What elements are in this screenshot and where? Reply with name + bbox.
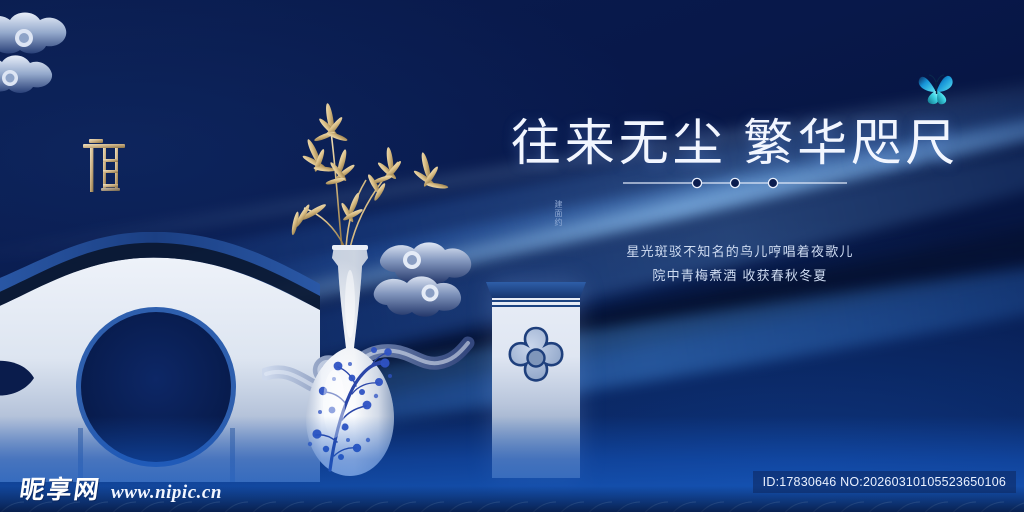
watermark-brand: 昵享网 www.nipic.cn: [20, 470, 222, 506]
watermark-brand-cn: 昵享网: [17, 470, 103, 506]
brand-logo-icon: [75, 132, 133, 198]
quatrefoil-flower-icon: [504, 326, 568, 390]
poster-canvas: 往来无尘 繁华咫尺 建面约 星光斑驳不知名的鸟儿哼唱着夜歌儿 院中青梅煮酒 收获…: [0, 0, 1024, 512]
subcopy-line-1: 星光斑驳不知名的鸟儿哼唱着夜歌儿: [520, 240, 960, 264]
chinese-cloud-icon: [0, 52, 76, 100]
page-title: 往来无尘 繁华咫尺: [500, 118, 970, 168]
area-tag-label: 建面约: [545, 200, 563, 227]
butterfly-icon: [915, 72, 959, 106]
divider-three-circles-icon: [500, 172, 970, 194]
subcopy-block: 星光斑驳不知名的鸟儿哼唱着夜歌儿 院中青梅煮酒 收获春秋冬夏: [520, 240, 960, 288]
golden-bamboo-icon: [280, 88, 450, 256]
watermark-url: www.nipic.cn: [111, 482, 222, 504]
watermark-id: ID:17830646 NO:20260310105523650106: [753, 471, 1016, 493]
pillar-stripe: [492, 305, 580, 307]
subcopy-line-2: 院中青梅煮酒 收获春秋冬夏: [520, 264, 960, 288]
pillar-stripe: [492, 300, 580, 302]
